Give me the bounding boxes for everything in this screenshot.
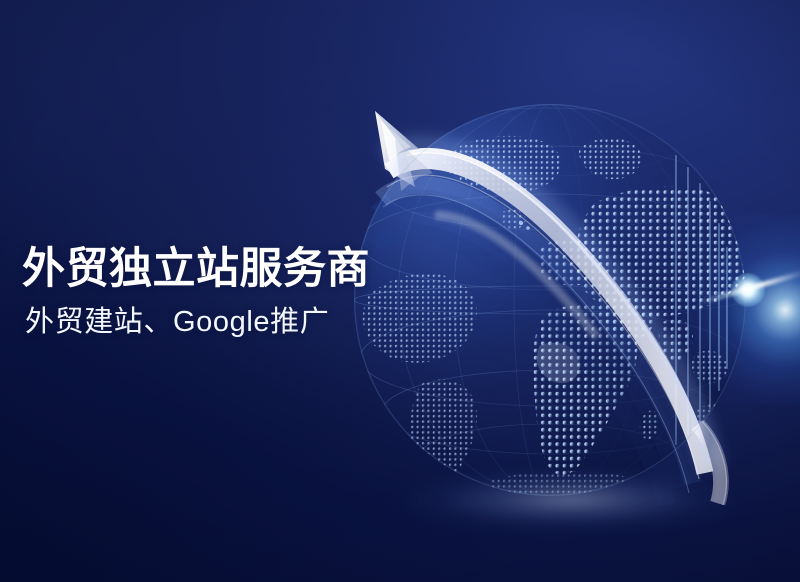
- banner-subheadline: 外贸建站、Google推广: [25, 306, 382, 339]
- banner-text-block: 外贸独立站服务商 外贸建站、Google推广: [22, 246, 382, 340]
- hero-banner: 外贸独立站服务商 外贸建站、Google推广: [0, 0, 800, 582]
- banner-headline: 外贸独立站服务商: [22, 246, 382, 292]
